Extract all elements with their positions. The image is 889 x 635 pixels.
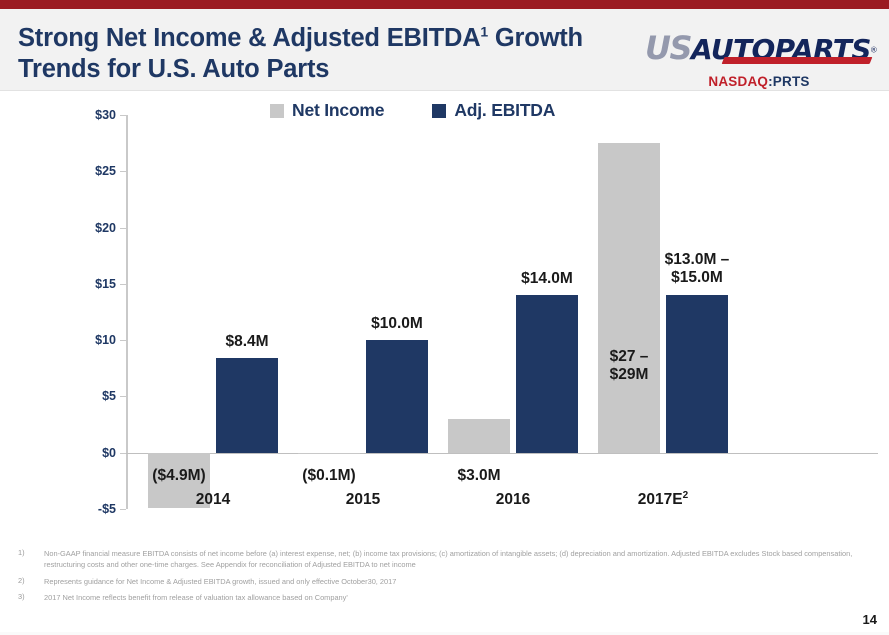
bar-data-label: $8.4M xyxy=(184,333,310,351)
bar-data-label: ($4.9M) xyxy=(126,467,232,485)
footnote-text: Non-GAAP financial measure EBITDA consis… xyxy=(44,548,868,571)
bar-data-label: ($0.1M) xyxy=(276,467,382,485)
y-axis-tick-label: $5 xyxy=(102,389,116,403)
y-axis-tick-label: -$5 xyxy=(98,502,116,516)
x-axis-category-label: 2016 xyxy=(448,491,578,509)
bar-net-income xyxy=(448,419,510,453)
footnote-number: 3) xyxy=(18,592,44,601)
y-axis-line xyxy=(126,115,128,509)
x-axis-category-label: 2014 xyxy=(148,491,278,509)
page-title-line1: Strong Net Income & Adjusted EBITDA xyxy=(18,24,480,52)
y-axis-tick xyxy=(120,228,126,229)
stock-ticker: NASDAQ:PRTS xyxy=(645,74,873,89)
bar-group: $27 – $29M$13.0M – $15.0M2017E2 xyxy=(598,115,758,509)
bar-adj-ebitda xyxy=(666,295,728,453)
page-title-line1-tail: Growth xyxy=(488,24,583,52)
footnote-number: 2) xyxy=(18,576,44,585)
bar-adj-ebitda xyxy=(516,295,578,453)
x-axis-category-footnote-marker: 2 xyxy=(683,490,689,501)
page-title-footnote-marker: 1 xyxy=(480,24,488,40)
bar-net-income xyxy=(598,143,660,453)
y-axis-tick xyxy=(120,509,126,510)
logo-swoosh-icon xyxy=(722,57,873,64)
slide: Strong Net Income & Adjusted EBITDA1 Gro… xyxy=(0,0,889,635)
y-axis-tick xyxy=(120,340,126,341)
y-axis-tick xyxy=(120,115,126,116)
bar-adj-ebitda xyxy=(366,340,428,453)
slide-header: Strong Net Income & Adjusted EBITDA1 Gro… xyxy=(0,9,889,91)
ticker-symbol: PRTS xyxy=(773,74,810,89)
bar-data-label: $3.0M xyxy=(426,467,532,485)
bar-group: ($0.1M)$10.0M2015 xyxy=(298,115,458,509)
y-axis-tick xyxy=(120,284,126,285)
plot-area: $30$25$20$15$10$5$0-$5 ($4.9M)$8.4M2014(… xyxy=(126,115,878,509)
footnote-text: Represents guidance for Net Income & Adj… xyxy=(44,576,396,587)
bar-data-label: $14.0M xyxy=(484,270,610,288)
page-title-line2: Trends for U.S. Auto Parts xyxy=(18,55,329,83)
footnote-row: 1)Non-GAAP financial measure EBITDA cons… xyxy=(18,548,868,571)
y-axis-tick-label: $0 xyxy=(102,446,116,460)
x-axis-category-text: 2015 xyxy=(346,491,380,508)
bar-adj-ebitda xyxy=(216,358,278,453)
y-axis-tick xyxy=(120,396,126,397)
page-number: 14 xyxy=(863,612,877,627)
page-title: Strong Net Income & Adjusted EBITDA1 Gro… xyxy=(18,23,638,85)
bar-group: ($4.9M)$8.4M2014 xyxy=(148,115,308,509)
x-axis-category-text: 2017E xyxy=(638,491,683,508)
top-red-rule xyxy=(0,0,889,9)
bar-group: $3.0M$14.0M2016 xyxy=(448,115,608,509)
logo-wordmark: USAUTOPARTS® xyxy=(645,29,873,63)
x-axis-category-text: 2014 xyxy=(196,491,230,508)
bar-data-label: $27 – $29M xyxy=(592,348,666,385)
footnote-row: 2)Represents guidance for Net Income & A… xyxy=(18,576,868,587)
logo-registered-icon: ® xyxy=(871,46,877,55)
ticker-exchange: NASDAQ xyxy=(708,74,768,89)
company-logo: USAUTOPARTS® NASDAQ:PRTS xyxy=(645,29,873,89)
y-axis-tick-label: $20 xyxy=(95,221,116,235)
y-axis-tick-label: $25 xyxy=(95,164,116,178)
y-axis-tick xyxy=(120,171,126,172)
y-axis-tick-label: $30 xyxy=(95,108,116,122)
x-axis-category-label: 2015 xyxy=(298,491,428,509)
bar-net-income xyxy=(298,453,360,455)
footnote-number: 1) xyxy=(18,548,44,557)
footnote-text: 2017 Net Income reflects benefit from re… xyxy=(44,592,348,603)
y-axis-tick-label: $10 xyxy=(95,333,116,347)
bar-data-label: $13.0M – $15.0M xyxy=(634,251,760,288)
y-axis-tick-label: $15 xyxy=(95,277,116,291)
x-axis-category-text: 2016 xyxy=(496,491,530,508)
bar-chart: Net Income Adj. EBITDA $30$25$20$15$10$5… xyxy=(0,91,889,541)
footnotes: 1)Non-GAAP financial measure EBITDA cons… xyxy=(18,548,868,609)
logo-us-text: US xyxy=(645,29,691,67)
x-axis-category-label: 2017E2 xyxy=(598,491,728,509)
bar-data-label: $10.0M xyxy=(334,315,460,333)
footnote-row: 3)2017 Net Income reflects benefit from … xyxy=(18,592,868,603)
